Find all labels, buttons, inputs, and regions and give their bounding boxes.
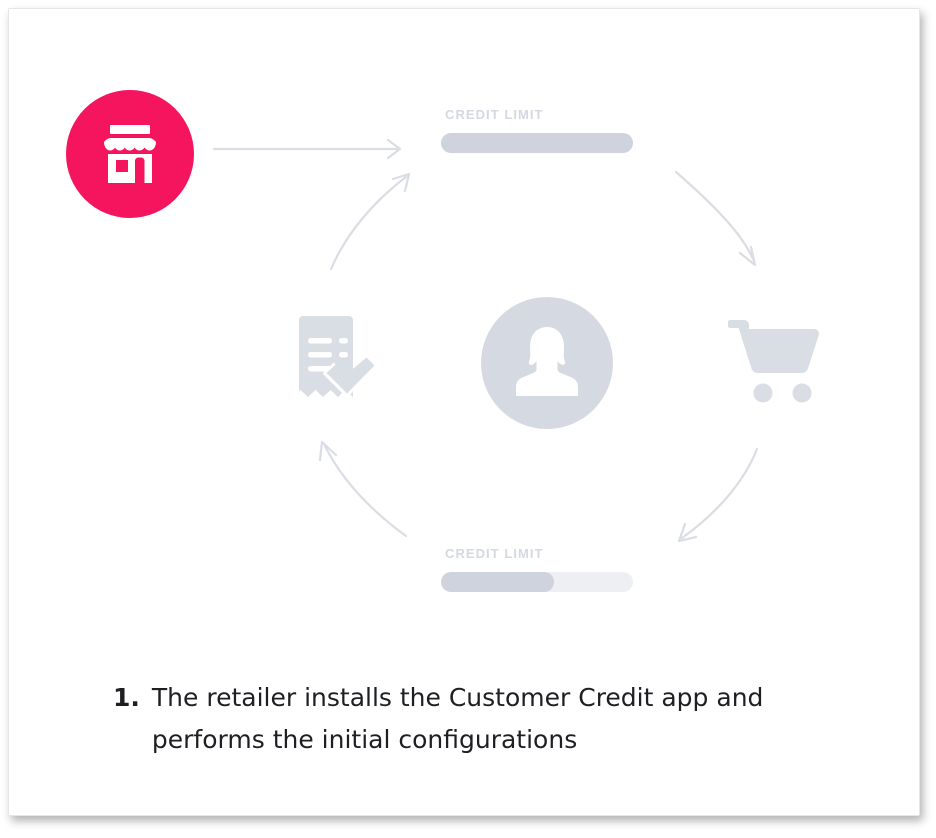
credit-limit-top: CREDIT LIMIT bbox=[441, 107, 641, 153]
credit-limit-bottom: CREDIT LIMIT bbox=[441, 546, 641, 592]
customer-avatar bbox=[481, 297, 613, 429]
credit-limit-top-label: CREDIT LIMIT bbox=[445, 107, 641, 122]
retailer-store-badge bbox=[66, 90, 194, 218]
receipt-check-icon bbox=[290, 314, 382, 408]
caption-text: The retailer installs the Customer Credi… bbox=[152, 677, 832, 761]
store-icon bbox=[93, 117, 167, 191]
arrow-credit-to-cart bbox=[676, 172, 755, 265]
credit-limit-bottom-bar bbox=[441, 572, 633, 592]
customer-credit-cycle-diagram: CREDIT LIMIT CREDIT LIMIT bbox=[9, 9, 921, 639]
arrow-cart-to-credit-bottom bbox=[679, 449, 757, 541]
arrow-receipt-to-credit-top bbox=[331, 174, 409, 269]
credit-limit-top-bar bbox=[441, 133, 633, 153]
arrow-store-to-credit bbox=[214, 140, 400, 158]
credit-limit-bottom-label: CREDIT LIMIT bbox=[445, 546, 641, 561]
customer-avatar-icon bbox=[511, 323, 583, 403]
arrow-credit-bottom-to-receipt bbox=[320, 442, 406, 536]
caption: 1. The retailer installs the Customer Cr… bbox=[113, 677, 873, 761]
caption-number: 1. bbox=[113, 677, 140, 719]
shopping-cart-icon bbox=[728, 314, 820, 404]
diagram-card: CREDIT LIMIT CREDIT LIMIT bbox=[8, 8, 920, 816]
credit-limit-bottom-bar-fill bbox=[441, 572, 554, 592]
